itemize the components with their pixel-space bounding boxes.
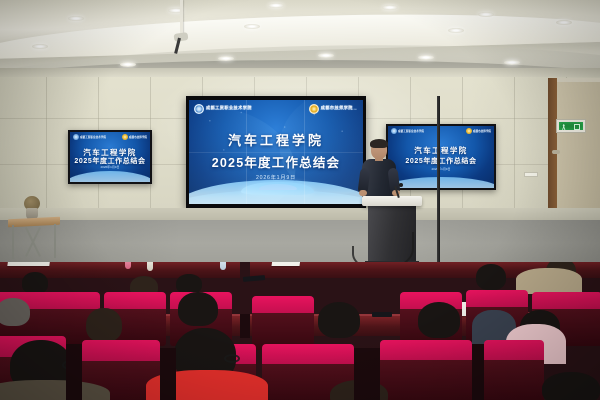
- thermos-bottle[interactable]: [125, 262, 131, 269]
- ceiling-light-icon: [318, 53, 334, 58]
- ceiling-light-icon: [504, 60, 520, 65]
- running-man-exit-icon: [562, 124, 566, 130]
- ceiling-light-icon: [218, 56, 234, 61]
- technician-college-name-cn: 成都市技师学院: [129, 135, 147, 139]
- seat-gap: [354, 348, 380, 400]
- smartphone[interactable]: [372, 312, 392, 317]
- seat-back: [38, 292, 100, 310]
- technician-college-logo-text: 成都市技师学院 CHENGDU TECHNICIAN COLLEGE: [321, 106, 357, 112]
- ceiling-light-icon: [478, 12, 494, 17]
- table-leg: [12, 225, 14, 259]
- ceiling-light-icon: [120, 62, 136, 67]
- notebook-papers[interactable]: [272, 262, 301, 266]
- presenter: [362, 140, 396, 202]
- seat-back: [380, 340, 472, 362]
- audience-head: [86, 308, 122, 342]
- emergency-exit-sign: [556, 119, 586, 133]
- seat-back: [262, 344, 354, 365]
- technician-college-emblem-icon: [122, 134, 128, 140]
- side-screen-left-content: 成都工贸职业技术学院 成都市技师学院 汽车工程学院 2025年度工作总结会 20…: [70, 132, 150, 182]
- seat-back: [104, 292, 166, 310]
- college-name-en: CHENGDU INDUSTRY & TRADE COLLEGE: [206, 110, 252, 112]
- seat-gap: [472, 344, 484, 400]
- exit-door-icon: [574, 124, 580, 130]
- ceiling-light-icon: [244, 24, 260, 29]
- audience-head: [476, 264, 506, 290]
- exit-door[interactable]: [556, 82, 600, 222]
- technician-college-emblem-icon: [309, 104, 319, 114]
- aisle-gap: [240, 314, 250, 338]
- car-wave-front: [189, 180, 363, 204]
- side-left-logo-left: 成都工贸职业技术学院: [73, 134, 106, 140]
- side-screen-title: 汽车工程学院: [388, 145, 494, 156]
- seat-back: [466, 290, 528, 308]
- ceiling-light-icon: [556, 20, 572, 25]
- screen-logo-right: 成都市技师学院 CHENGDU TECHNICIAN COLLEGE: [309, 104, 357, 114]
- college-name-cn: 成都工贸职业技术学院: [398, 129, 424, 133]
- screen-car-graphic: [189, 170, 363, 204]
- side-led-screen-right[interactable]: 成都工贸职业技术学院 成都市技师学院 汽车工程学院 2025年度工作总结会 20…: [386, 124, 496, 190]
- technician-college-name-en: CHENGDU TECHNICIAN COLLEGE: [321, 110, 357, 112]
- side-left-logo-right: 成都市技师学院: [122, 134, 147, 140]
- audience-head: [0, 298, 30, 326]
- audience-head: [22, 272, 48, 294]
- audience-head: [318, 302, 360, 338]
- seat-gap: [160, 348, 176, 400]
- ceiling: [0, 0, 600, 74]
- audience-head: [178, 292, 218, 326]
- side-screen-subtitle: 2025年度工作总结会: [388, 156, 494, 166]
- seat-lower: [380, 360, 472, 400]
- ceiling-light-icon: [32, 44, 48, 49]
- ceiling-light-icon: [68, 16, 84, 21]
- ceiling-light-icon: [418, 55, 434, 60]
- ceiling-light-icon: [382, 5, 398, 10]
- led-panel-seam: [189, 152, 363, 153]
- hanging-projector-rod: [180, 0, 183, 36]
- main-screen-content: 成都工贸职业技术学院 CHENGDU INDUSTRY & TRADE COLL…: [189, 100, 363, 204]
- exit-sign-panel: [559, 122, 583, 130]
- door-handle[interactable]: [552, 150, 560, 154]
- seat-gap: [66, 344, 82, 400]
- technician-college-emblem-icon: [466, 128, 472, 134]
- seat[interactable]: [252, 296, 314, 350]
- college-emblem-icon: [73, 134, 79, 140]
- water-bottle[interactable]: [220, 262, 226, 270]
- table-leg: [54, 224, 56, 258]
- side-screen-wave-graphic: [70, 171, 150, 182]
- audience-head: [176, 274, 202, 294]
- podium-top-surface: [362, 196, 422, 206]
- seat-back: [532, 292, 600, 310]
- college-emblem-icon: [391, 128, 397, 134]
- side-screen-date: 2026年1月9日: [70, 165, 150, 169]
- side-led-screen-left[interactable]: 成都工贸职业技术学院 成都市技师学院 汽车工程学院 2025年度工作总结会 20…: [68, 130, 152, 184]
- side-screen-wave-graphic: [388, 177, 494, 188]
- audience-seating-area: [0, 262, 600, 400]
- lecture-hall-photo: 成都工贸职业技术学院 CHENGDU INDUSTRY & TRADE COLL…: [0, 0, 600, 400]
- smartphone[interactable]: [243, 275, 265, 282]
- audience-head: [418, 302, 460, 338]
- seat[interactable]: [380, 340, 472, 400]
- side-screen-right-content: 成都工贸职业技术学院 成都市技师学院 汽车工程学院 2025年度工作总结会 20…: [388, 126, 494, 188]
- main-led-screen[interactable]: 成都工贸职业技术学院 CHENGDU INDUSTRY & TRADE COLL…: [186, 96, 366, 208]
- college-emblem-icon: [194, 104, 204, 114]
- ceiling-light-icon: [448, 28, 464, 33]
- college-name-cn: 成都工贸职业技术学院: [80, 135, 106, 139]
- microphone-stand: [437, 96, 440, 272]
- eyeglasses-icon: [224, 354, 240, 363]
- side-screen-date: 2026年1月9日: [388, 167, 494, 171]
- side-right-logo-right: 成都市技师学院: [466, 128, 491, 134]
- wall-socket[interactable]: [524, 172, 538, 177]
- seat-back: [252, 296, 314, 314]
- audience-head: [542, 372, 600, 400]
- seat-back: [484, 340, 544, 362]
- screen-subtitle: 2025年度工作总结会: [189, 152, 363, 171]
- notebook-papers[interactable]: [7, 262, 50, 266]
- thermos-bottle[interactable]: [147, 262, 153, 271]
- seat-back: [82, 340, 160, 362]
- side-right-logo-left: 成都工贸职业技术学院: [391, 128, 424, 134]
- technician-college-name-cn: 成都市技师学院: [473, 129, 491, 133]
- seat-lower: [484, 360, 544, 400]
- college-logo-text: 成都工贸职业技术学院 CHENGDU INDUSTRY & TRADE COLL…: [206, 106, 252, 112]
- screen-logo-left: 成都工贸职业技术学院 CHENGDU INDUSTRY & TRADE COLL…: [194, 104, 252, 114]
- screen-title: 汽车工程学院: [189, 130, 363, 149]
- presenter-hair: [370, 139, 388, 148]
- seat[interactable]: [484, 340, 544, 400]
- ceiling-light-icon: [268, 3, 284, 8]
- audience-shoulders: [0, 380, 110, 400]
- microphone-icon: [399, 183, 403, 187]
